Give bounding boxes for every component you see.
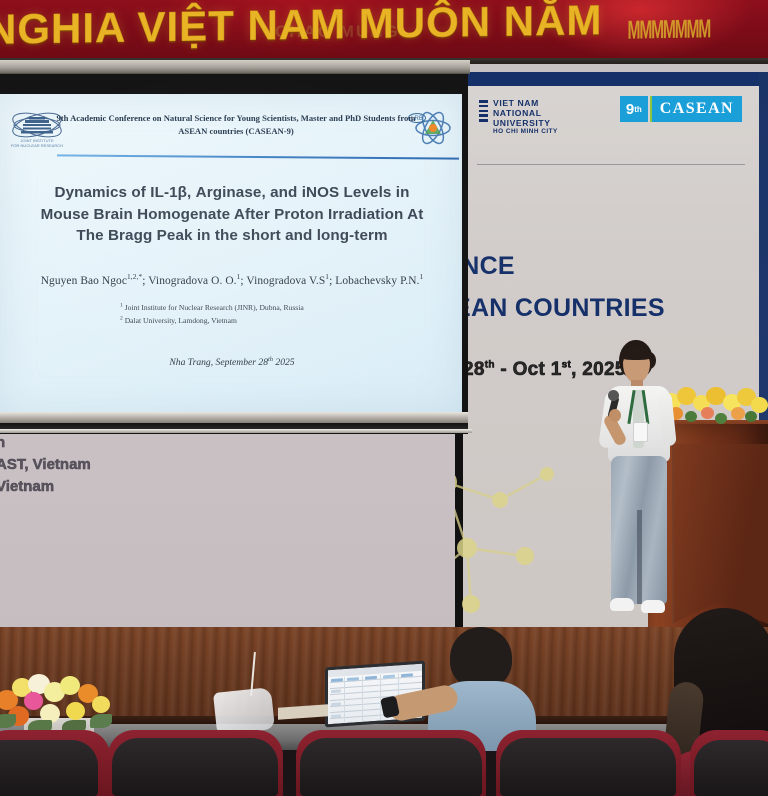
backdrop-divider <box>477 164 745 165</box>
speaker-shoe-left <box>610 598 634 611</box>
slide-affiliation-1: 1 Joint Institute for Nuclear Research (… <box>120 301 420 314</box>
svg-text:JOINT INSTITUTE: JOINT INSTITUTE <box>20 138 54 143</box>
vnu-line-4: HO CHI MINH CITY <box>493 128 558 136</box>
slide-header-line-2: ASEAN countries (CASEAN-9) <box>56 125 416 138</box>
seat-row-item <box>112 738 278 796</box>
slide-authors: Nguyen Bao Ngoc1,2,*; Vinogradova O. O.1… <box>18 272 446 287</box>
banner-slogan: NGHIA VIỆT NAM MUÔN NĂM <box>0 0 602 54</box>
casean-logo: 9th CASEAN <box>620 96 742 122</box>
vnu-line-1: VIET NAM <box>493 98 558 108</box>
seat-row-item <box>300 738 482 796</box>
vnu-logo: VIET NAM NATIONAL UNIVERSITY HO CHI MINH… <box>479 98 558 136</box>
plastic-wrapper-bag <box>213 687 275 735</box>
slide-footer-date: Nha Trang, September 28th 2025 <box>18 356 446 368</box>
conference-photo: CHAO MUNG NGHIA VIỆT NAM MUÔN NĂM MMMMMM… <box>0 0 768 796</box>
speaker-jeans-seam <box>637 510 642 604</box>
backdrop-top-edge <box>455 72 768 86</box>
vnu-bars-icon <box>479 98 488 122</box>
backdrop-headline-1: IENCE <box>455 252 768 281</box>
slide-affiliation-2: 2 Dalat University, Lamdong, Vietnam <box>120 314 420 327</box>
slide-header-line-1: 9th Academic Conference on Natural Scien… <box>56 112 416 125</box>
speaker-hand <box>609 409 621 422</box>
attendee-head <box>450 627 512 689</box>
screen-metal-rail <box>0 429 472 433</box>
projector-screen-valance <box>0 60 470 74</box>
casean-wordmark: CASEAN <box>650 96 742 122</box>
slide-conference-header: 9th Academic Conference on Natural Scien… <box>56 112 416 139</box>
seat-row-item <box>500 738 676 796</box>
slide-divider-rule <box>57 154 459 159</box>
slide-title: Dynamics of IL-1β, Arginase, and iNOS Le… <box>22 182 442 247</box>
svg-text:FOR NUCLEAR RESEARCH: FOR NUCLEAR RESEARCH <box>11 143 63 148</box>
presentation-slide: JOINT INSTITUTE FOR NUCLEAR RESEARCH LRB… <box>0 94 462 414</box>
auditorium-seats <box>0 730 768 796</box>
seat-row-item <box>0 740 98 796</box>
backdrop-headline-2: SEAN COUNTRIES <box>455 294 768 323</box>
wall-text-line-2: AST, Vietnam <box>0 454 206 476</box>
vnu-line-2: NATIONAL <box>493 108 558 118</box>
hall-top-banner: CHAO MUNG NGHIA VIỆT NAM MUÔN NĂM MMMMMM… <box>0 0 768 64</box>
casean-edition-number: 9th <box>620 96 648 122</box>
slide-title-line-2: Mouse Brain Homogenate After Proton Irra… <box>22 204 442 226</box>
vnu-line-3: UNIVERSITY <box>493 118 558 128</box>
slide-title-line-3: The Bragg Peak in the short and long-ter… <box>22 225 442 247</box>
speaker-presenter <box>592 340 684 650</box>
wall-text-line-3: Vietnam <box>0 476 206 498</box>
slide-title-line-1: Dynamics of IL-1β, Arginase, and iNOS Le… <box>22 182 442 204</box>
banner-slogan-secondary: MMMMMMM <box>628 13 711 45</box>
seat-row-item <box>694 740 768 796</box>
slide-affiliations: 1 Joint Institute for Nuclear Research (… <box>120 301 420 328</box>
speaker-badge <box>633 422 648 442</box>
wall-printed-text: n AST, Vietnam Vietnam <box>0 432 206 497</box>
microphone-head-icon <box>608 390 619 401</box>
wall-text-line-1: n <box>0 432 206 454</box>
podium-front-panel <box>672 444 768 624</box>
